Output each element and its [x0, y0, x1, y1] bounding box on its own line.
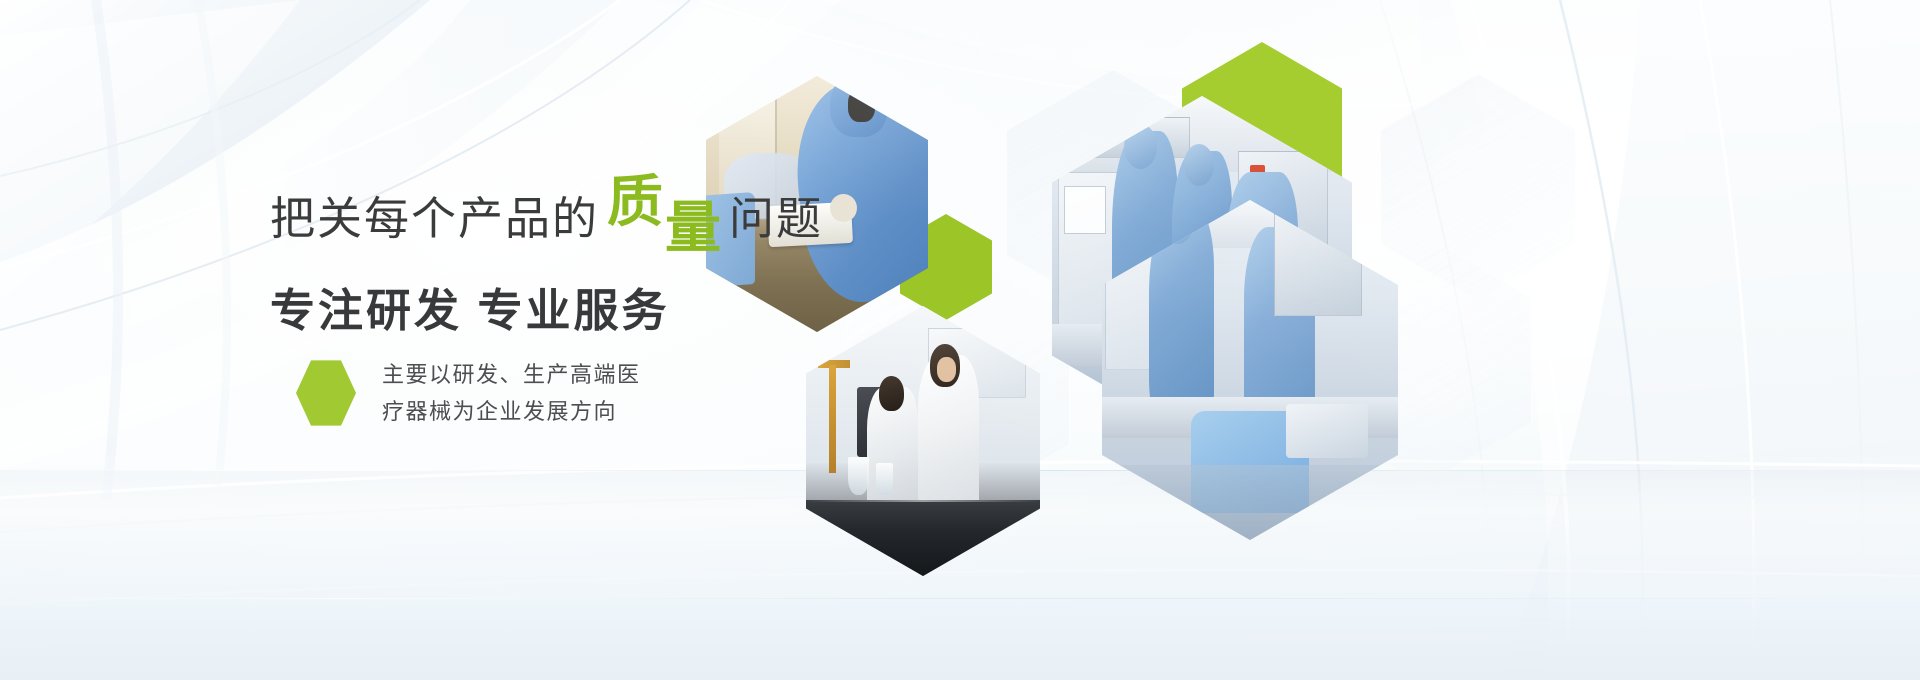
hero-copy: 把关每个产品的质量问题 专注研发 专业服务	[270, 176, 910, 339]
hexagon-bullet-icon	[296, 359, 356, 427]
headline: 把关每个产品的质量问题	[270, 176, 910, 254]
headline-part-2: 问题	[729, 180, 823, 258]
tagline-text: 主要以研发、生产高端医 疗器械为企业发展方向	[382, 356, 641, 430]
hero-banner: 把关每个产品的质量问题 专注研发 专业服务 主要以研发、生产高端医 疗器械为企业…	[0, 0, 1920, 680]
headline-highlight-2: 量	[665, 189, 721, 267]
headline-highlight-1: 质	[607, 163, 663, 241]
hexagon-cluster	[0, 0, 1920, 680]
tagline-line-2: 疗器械为企业发展方向	[382, 393, 641, 430]
headline-part-1: 把关每个产品的	[270, 180, 599, 258]
tagline-block: 主要以研发、生产高端医 疗器械为企业发展方向	[296, 356, 641, 430]
tagline-line-1: 主要以研发、生产高端医	[382, 356, 641, 393]
subheadline: 专注研发 专业服务	[270, 274, 910, 339]
